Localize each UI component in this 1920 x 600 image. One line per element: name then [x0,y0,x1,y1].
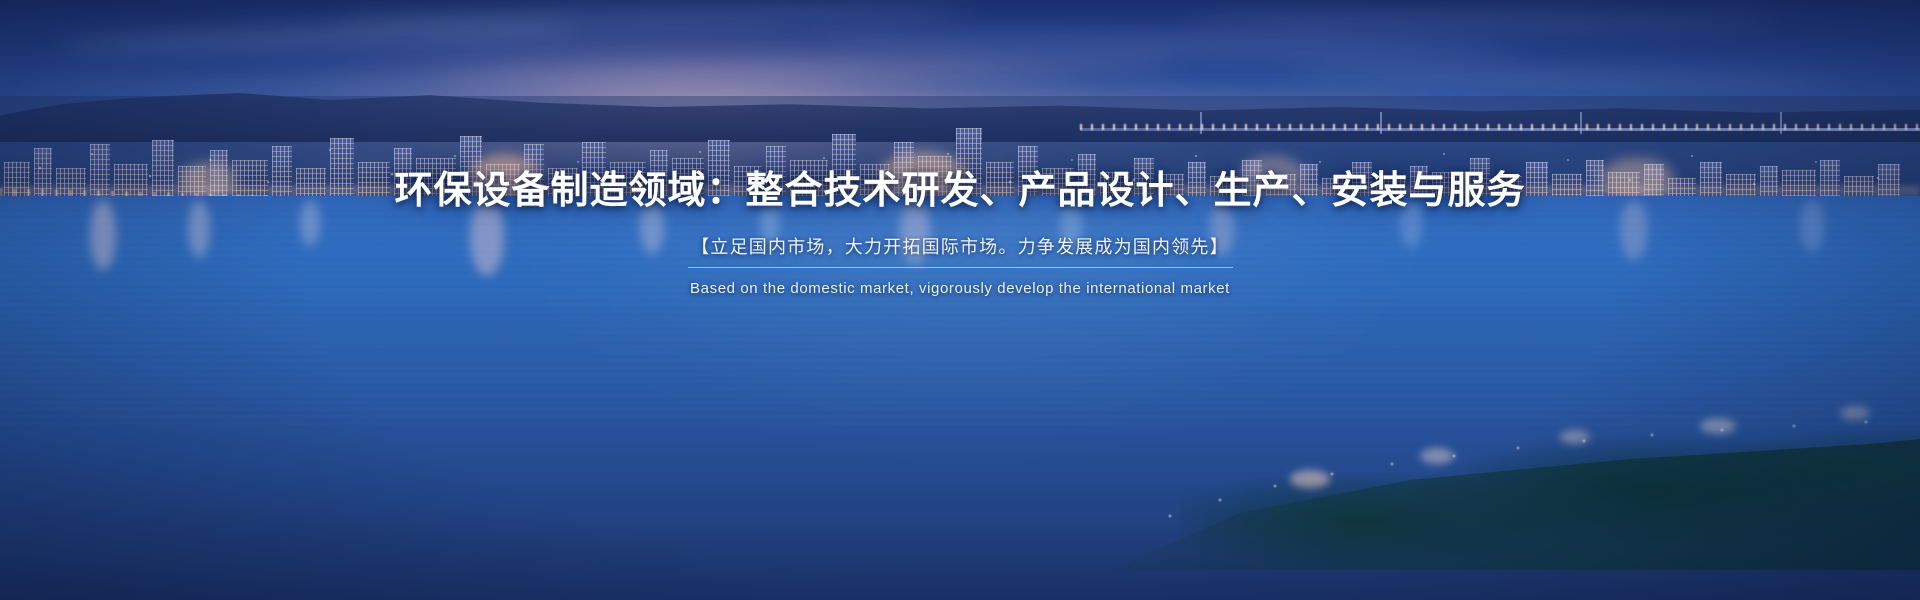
hero-banner: 环保设备制造领域：整合技术研发、产品设计、生产、安装与服务 【立足国内市场，大力… [0,0,1920,600]
banner-content: 环保设备制造领域：整合技术研发、产品设计、生产、安装与服务 【立足国内市场，大力… [0,0,1920,600]
banner-subtitle-group: 【立足国内市场，大力开拓国际市场。力争发展成为国内领先】 Based on th… [688,236,1233,297]
divider-rule [688,267,1233,268]
banner-subtitle: 【立足国内市场，大力开拓国际市场。力争发展成为国内领先】 [691,236,1229,259]
banner-headline: 环保设备制造领域：整合技术研发、产品设计、生产、安装与服务 [394,170,1525,214]
banner-english-tagline: Based on the domestic market, vigorously… [690,280,1230,297]
